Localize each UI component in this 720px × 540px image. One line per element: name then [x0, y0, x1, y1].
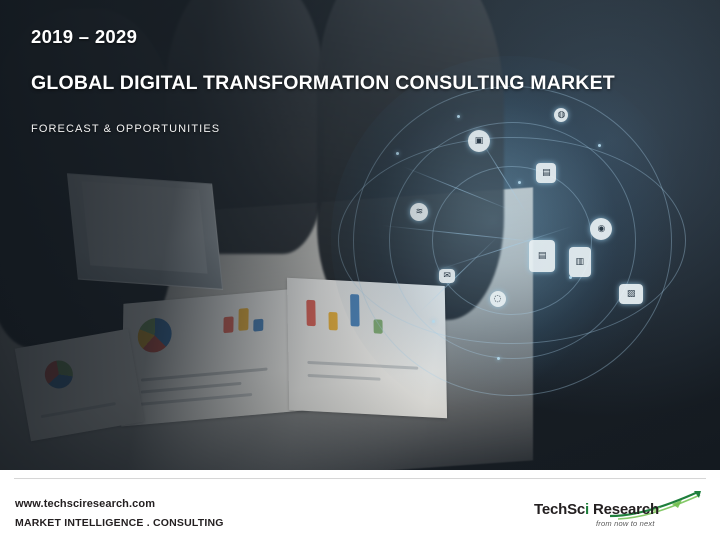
footer-divider: [14, 478, 706, 479]
page-title: GLOBAL DIGITAL TRANSFORMATION CONSULTING…: [31, 72, 671, 95]
report-subtitle: FORECAST & OPPORTUNITIES: [31, 123, 671, 135]
logo-word-research: Research: [589, 501, 659, 518]
report-years: 2019 – 2029: [31, 26, 671, 48]
logo-wordmark: TechSci Research: [534, 501, 659, 519]
cover-page: ▣ ▤ ≋ ◉ ▤ ▥ ▨ ◌ ✉ ◍ 2019 – 2029 GLOBAL D…: [0, 0, 720, 540]
logo-word-techsc: TechSc: [534, 501, 585, 518]
logo-tagline: from now to next: [596, 519, 655, 528]
footer-website[interactable]: www.techsciresearch.com: [15, 498, 224, 510]
techsci-research-logo: TechSci Research from now to next: [534, 490, 704, 534]
footer-tagline: MARKET INTELLIGENCE . CONSULTING: [15, 517, 224, 529]
footer-text-group: www.techsciresearch.com MARKET INTELLIGE…: [15, 498, 224, 529]
title-block: 2019 – 2029 GLOBAL DIGITAL TRANSFORMATIO…: [31, 26, 671, 135]
footer: www.techsciresearch.com MARKET INTELLIGE…: [0, 470, 720, 540]
